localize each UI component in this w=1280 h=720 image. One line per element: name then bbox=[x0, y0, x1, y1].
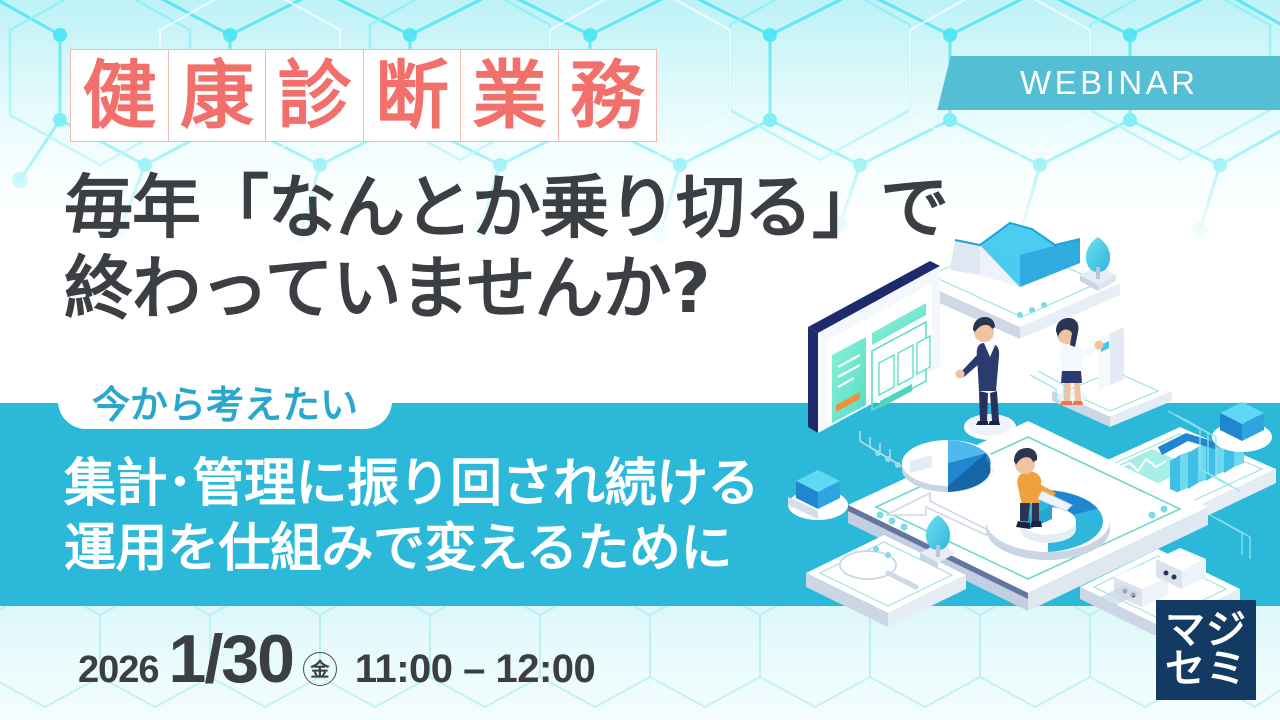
monitor-dashboard bbox=[808, 261, 940, 474]
schedule-time: 11:00 – 12:00 bbox=[355, 647, 595, 692]
headline-kanji-char: 康 bbox=[180, 59, 254, 133]
headline-kanji-box: 業 bbox=[460, 49, 559, 142]
pill-badge-label: 今から考えたい bbox=[92, 374, 358, 429]
band-text-line2: 運用を仕組みで変えるために bbox=[64, 517, 759, 582]
schedule-bar: 2026 1/30 金 11:00 – 12:00 bbox=[78, 620, 595, 698]
businessman-standing bbox=[956, 317, 1017, 440]
headline-kanji-row: 健 康 診 断 業 務 bbox=[70, 49, 655, 142]
isometric-illustration bbox=[780, 215, 1280, 635]
headline-kanji-char: 健 bbox=[83, 59, 157, 133]
headline-kanji-box: 務 bbox=[558, 49, 657, 142]
headline-kanji-char: 業 bbox=[473, 59, 547, 133]
headline-kanji-char: 診 bbox=[278, 59, 352, 133]
webinar-badge: WEBINAR bbox=[937, 56, 1280, 110]
cube-node-right bbox=[1212, 402, 1272, 452]
headline-kanji-box: 健 bbox=[70, 49, 169, 142]
headline-kanji-box: 断 bbox=[363, 49, 462, 142]
majiseminar-logo: マジ セミ bbox=[1156, 600, 1256, 700]
headline-kanji-char: 務 bbox=[570, 59, 644, 133]
schedule-year: 2026 bbox=[78, 649, 159, 692]
cube-node-left bbox=[788, 470, 848, 520]
webinar-banner: WEBINAR 健 康 診 断 業 務 毎年「なんとか乗り切る」で 終わっていま… bbox=[0, 0, 1280, 720]
band-text: 集計･管理に振り回され続ける 運用を仕組みで変えるために bbox=[64, 452, 759, 582]
webinar-badge-label: WEBINAR bbox=[1020, 64, 1221, 102]
band-text-line1: 集計･管理に振り回され続ける bbox=[64, 452, 759, 517]
pie-chart bbox=[902, 440, 994, 492]
headline-kanji-box: 診 bbox=[265, 49, 364, 142]
schedule-date: 1/30 bbox=[169, 620, 293, 698]
pill-badge: 今から考えたい bbox=[58, 373, 392, 429]
logo-line2: セミ bbox=[1165, 650, 1247, 689]
headline-kanji-box: 康 bbox=[168, 49, 267, 142]
logo-line1: マジ bbox=[1165, 611, 1247, 650]
headline-kanji-char: 断 bbox=[375, 59, 449, 133]
schedule-day-of-week: 金 bbox=[303, 652, 337, 686]
